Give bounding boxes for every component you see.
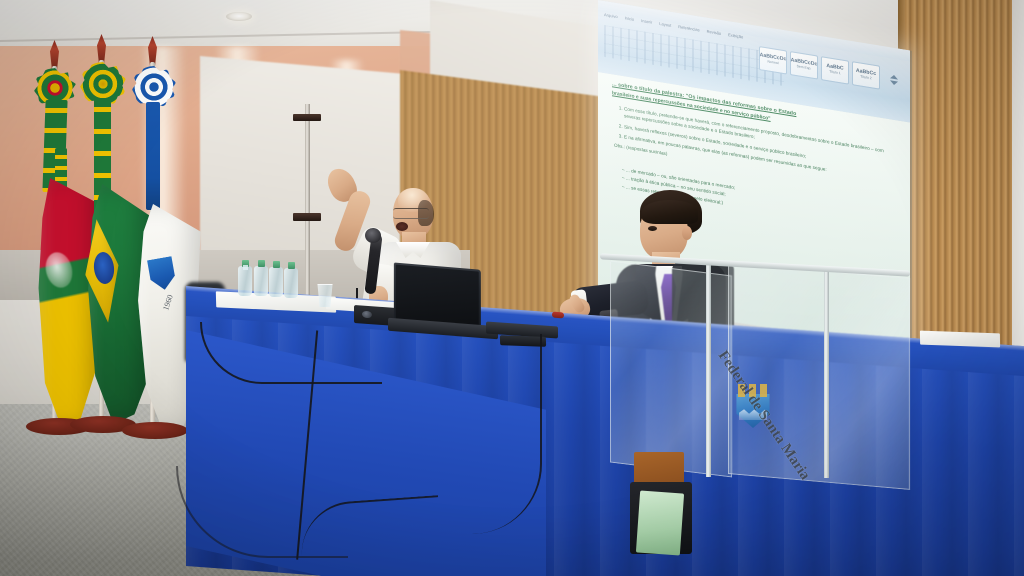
glass-post-2 xyxy=(824,268,829,478)
style-item-3[interactable]: AaBbCc Título 2 xyxy=(852,61,880,90)
style-name-3: Título 2 xyxy=(860,75,871,80)
bottle-cap-icon xyxy=(273,261,280,268)
bottle-body xyxy=(238,266,252,296)
glasses-icon xyxy=(393,208,429,219)
seated-ear xyxy=(682,226,692,240)
style-name-2: Título 1 xyxy=(829,70,840,75)
flag-ribbon xyxy=(146,102,160,210)
speaker-mouth xyxy=(396,222,408,231)
stand-bracket-lower xyxy=(293,213,321,221)
style-name-0: Normal xyxy=(768,60,779,65)
ribbon-tab-1[interactable]: Início xyxy=(625,15,635,26)
green-folders[interactable] xyxy=(636,491,684,556)
chevron-down-icon[interactable] xyxy=(890,80,898,85)
ribbon-tab-3[interactable]: Layout xyxy=(659,21,671,32)
bottle-neck xyxy=(243,265,248,270)
water-bottle-4[interactable] xyxy=(284,258,298,298)
ribbon-tab-2[interactable]: Inserir xyxy=(641,18,652,29)
bottle-body xyxy=(254,266,268,296)
papers-right[interactable] xyxy=(920,331,1000,348)
metal-stand-pole xyxy=(305,104,310,314)
style-item-1[interactable]: AaBbCcDc Sem Esp. xyxy=(790,51,818,80)
ribbon-tab-6[interactable]: Exibição xyxy=(728,32,743,43)
cable-run-4 xyxy=(430,334,542,534)
bottle-body xyxy=(269,267,283,297)
flag-stand-base xyxy=(122,422,188,439)
style-item-2[interactable]: AaBbC Título 1 xyxy=(821,56,849,85)
projector-lens-icon xyxy=(362,311,372,319)
chevron-up-icon[interactable] xyxy=(890,74,898,79)
seated-eye xyxy=(648,226,657,231)
seated-hair-front xyxy=(642,200,698,224)
bottle-cap-icon xyxy=(288,262,295,269)
conference-room-photo: Arquivo Início Inserir Layout Referência… xyxy=(0,0,1024,576)
ribbon-tab-5[interactable]: Revisão xyxy=(707,29,721,40)
style-item-0[interactable]: AaBbCcDc Normal xyxy=(759,46,787,75)
downlight-1 xyxy=(226,12,252,21)
red-marker-object[interactable] xyxy=(552,312,564,319)
glass-balustrade-left xyxy=(610,261,732,478)
bottle-cap-icon xyxy=(258,260,265,267)
style-name-1: Sem Esp. xyxy=(797,65,812,71)
ribbon-tab-0[interactable]: Arquivo xyxy=(604,12,618,23)
water-bottle-2[interactable] xyxy=(254,256,268,296)
glass-post-1 xyxy=(706,262,711,477)
bottle-body xyxy=(284,268,298,298)
water-bottle-3[interactable] xyxy=(269,257,283,297)
water-bottle-1[interactable] xyxy=(238,256,252,296)
style-gallery-scroll-arrows[interactable] xyxy=(884,66,904,93)
glass-balustrade-right xyxy=(728,262,910,490)
stand-bracket-upper xyxy=(293,114,321,121)
